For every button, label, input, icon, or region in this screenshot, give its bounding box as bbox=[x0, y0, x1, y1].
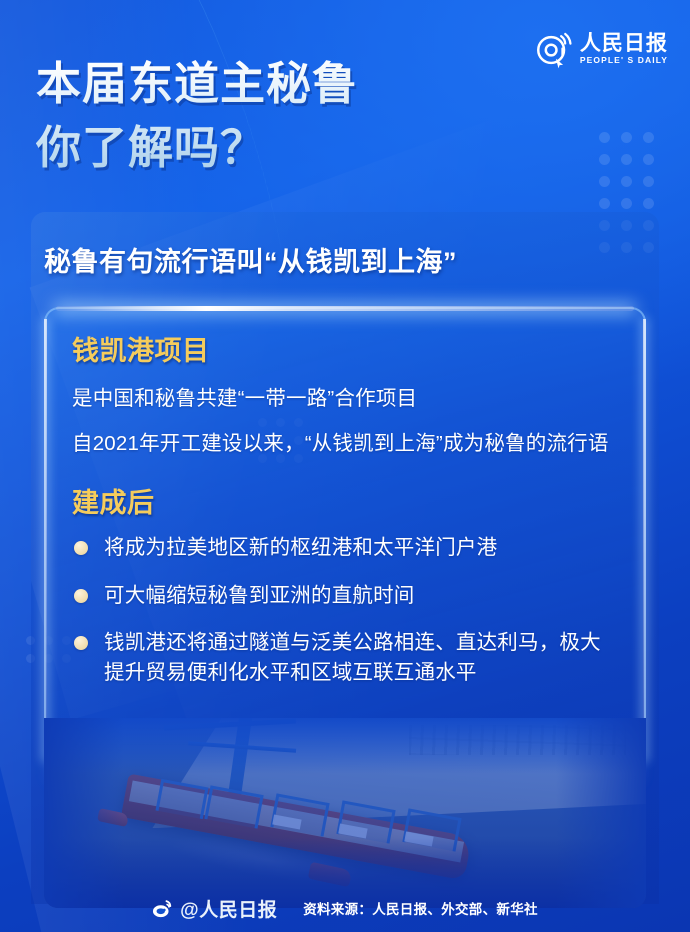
infographic-poster: 人民日报 PEOPLE' S DAILY 本届东道主秘鲁 你了解吗？ 秘鲁有句流… bbox=[0, 0, 690, 932]
info-card: 钱凯港项目 是中国和秘鲁共建“一带一路”合作项目 自2021年开工建设以来，“从… bbox=[44, 307, 646, 772]
list-item: 钱凯港还将通过隧道与泛美公路相连、直达利马，极大提升贸易便利化水平和区域互联互通… bbox=[72, 628, 618, 688]
brand-name-cn: 人民日报 bbox=[580, 33, 668, 54]
poster-header: 人民日报 PEOPLE' S DAILY 本届东道主秘鲁 你了解吗？ bbox=[0, 0, 690, 212]
brand-name-en: PEOPLE' S DAILY bbox=[580, 56, 668, 65]
section-heading-port-project: 钱凯港项目 bbox=[72, 335, 618, 367]
at-sign-logo-icon bbox=[533, 30, 575, 72]
photo-fade-left bbox=[44, 718, 124, 908]
source-credit: 资料来源：人民日报、外交部、新华社 bbox=[303, 898, 538, 918]
brand-logo-text: 人民日报 PEOPLE' S DAILY bbox=[580, 30, 668, 65]
page-title: 本届东道主秘鲁 你了解吗？ bbox=[36, 52, 358, 180]
list-item: 可大幅缩短秘鲁到亚洲的直航时间 bbox=[72, 581, 618, 611]
section-heading-after-completion: 建成后 bbox=[72, 487, 618, 519]
port-project-paragraph-1: 是中国和秘鲁共建“一带一路”合作项目 bbox=[72, 384, 618, 414]
photo-fade-right bbox=[556, 718, 646, 908]
port-photo bbox=[44, 718, 646, 908]
panel-subtitle: 秘鲁有句流行语叫“从钱凯到上海” bbox=[44, 240, 457, 279]
poster-footer: @人民日报 资料来源：人民日报、外交部、新华社 bbox=[0, 884, 690, 932]
benefits-list: 将成为拉美地区新的枢纽港和太平洋门户港 可大幅缩短秘鲁到亚洲的直航时间 钱凯港还… bbox=[72, 533, 618, 688]
weibo-credit: @人民日报 bbox=[152, 895, 277, 922]
brand-logo: 人民日报 PEOPLE' S DAILY bbox=[533, 30, 668, 72]
port-project-paragraph-2: 自2021年开工建设以来，“从钱凯到上海”成为秘鲁的流行语 bbox=[72, 429, 618, 459]
weibo-handle: @人民日报 bbox=[180, 895, 277, 922]
info-card-content: 钱凯港项目 是中国和秘鲁共建“一带一路”合作项目 自2021年开工建设以来，“从… bbox=[46, 309, 644, 688]
page-title-line-1: 本届东道主秘鲁 bbox=[36, 52, 358, 116]
weibo-icon bbox=[152, 899, 174, 918]
list-item: 将成为拉美地区新的枢纽港和太平洋门户港 bbox=[72, 533, 618, 563]
page-title-line-2: 你了解吗？ bbox=[36, 116, 358, 180]
